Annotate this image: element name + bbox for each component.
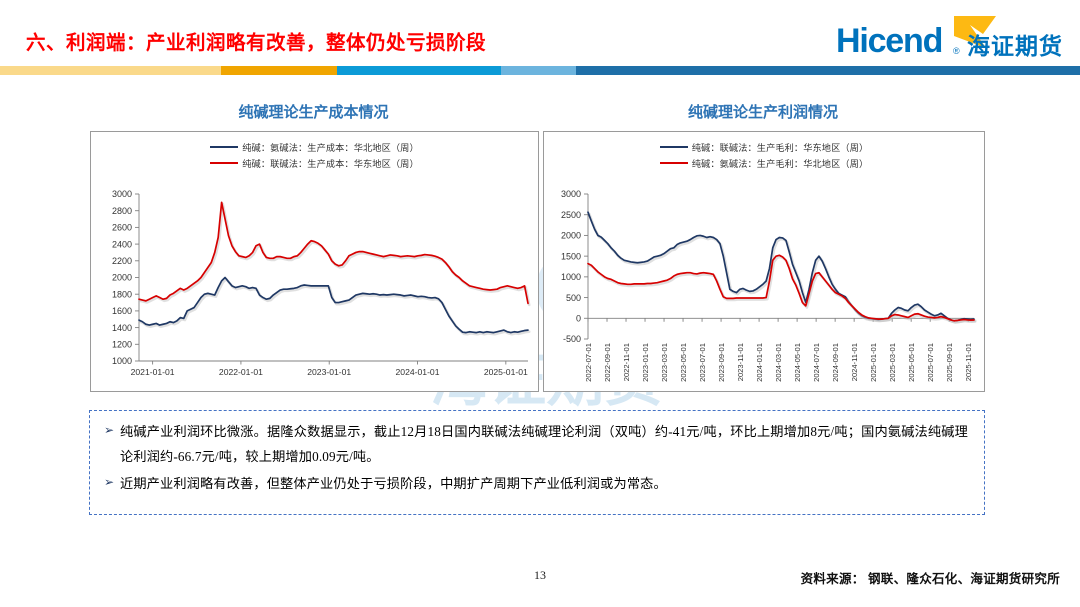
legend-swatch-line xyxy=(210,162,238,164)
x-tick-label: 2023-01-01 xyxy=(641,343,650,382)
x-tick-label: 2024-09-01 xyxy=(831,343,840,382)
y-tick-label: 1000 xyxy=(561,272,581,282)
x-tick-label: 2025-01-01 xyxy=(484,367,528,377)
bullet-text: 纯碱产业利润环比微涨。据隆众数据显示，截止12月18日国内联碱法纯碱理论利润（双… xyxy=(120,419,968,469)
x-tick-label: 2022-07-01 xyxy=(584,343,593,382)
bullet-item: ➢ 近期产业利润略有改善，但整体产业仍处于亏损阶段，中期扩产周期下产业低利润或为… xyxy=(104,471,968,496)
band-orange xyxy=(221,66,337,75)
legend-item: 纯碱：联碱法：生产成本：华东地区（周） xyxy=(210,156,418,170)
plot-area-cost: 3000280026002400220020001800160014001200… xyxy=(91,132,538,391)
slide-root: Hicend ® 海证期货 六、利润端：产业利润略有改善，整体仍处亏损阶段 Hi… xyxy=(0,0,1080,607)
x-tick-label: 2023-11-01 xyxy=(736,343,745,381)
x-tick-label: 2023-07-01 xyxy=(698,343,707,382)
y-tick-label: 1400 xyxy=(112,323,132,333)
chart-title-cost: 纯碱理论生产成本情况 xyxy=(90,101,537,122)
legend-swatch-line xyxy=(660,146,688,148)
band-cyan xyxy=(337,66,501,75)
x-tick-label: 2024-07-01 xyxy=(812,343,821,382)
x-tick-label: 2023-05-01 xyxy=(679,343,688,382)
hicend-logo: Hicend ® 海证期货 xyxy=(836,14,1066,58)
band-darkblue xyxy=(576,66,1080,75)
page-title: 六、利润端：产业利润略有改善，整体仍处亏损阶段 xyxy=(26,26,486,55)
chart-title-profit: 纯碱理论生产利润情况 xyxy=(543,101,983,122)
x-tick-label: 2024-11-01 xyxy=(850,343,859,381)
legend-item: 纯碱：联碱法：生产毛利：华东地区（周） xyxy=(660,140,868,154)
y-tick-label: 1200 xyxy=(112,340,132,350)
y-tick-label: 1800 xyxy=(112,289,132,299)
y-tick-label: 2000 xyxy=(561,231,581,241)
x-tick-label: 2024-03-01 xyxy=(774,343,783,382)
x-tick-label: 2025-03-01 xyxy=(888,343,897,382)
x-tick-label: 2023-01-01 xyxy=(307,367,351,377)
legend-item: 纯碱：氨碱法：生产成本：华北地区（周） xyxy=(210,140,418,154)
x-tick-label: 2025-07-01 xyxy=(926,343,935,382)
legend-swatch-line xyxy=(660,162,688,164)
svg-text:Hicend: Hicend xyxy=(836,22,942,60)
series-line xyxy=(588,212,974,321)
y-tick-label: 3000 xyxy=(112,189,132,199)
y-tick-label: 2800 xyxy=(112,206,132,216)
x-tick-label: 2024-01-01 xyxy=(396,367,440,377)
plot-area-profit: 300025002000150010005000-5002022-07-0120… xyxy=(544,132,984,391)
bullet-item: ➢ 纯碱产业利润环比微涨。据隆众数据显示，截止12月18日国内联碱法纯碱理论利润… xyxy=(104,419,968,469)
y-tick-label: 2600 xyxy=(112,223,132,233)
x-tick-label: 2021-01-01 xyxy=(131,367,175,377)
y-tick-label: 1500 xyxy=(561,251,581,261)
legend-swatch-line xyxy=(210,146,238,148)
svg-text:海证期货: 海证期货 xyxy=(967,33,1063,60)
x-tick-label: 2023-09-01 xyxy=(717,343,726,382)
band-cream xyxy=(0,66,221,75)
bullet-arrow-icon: ➢ xyxy=(104,471,120,493)
y-tick-label: 0 xyxy=(576,313,581,323)
legend-item: 纯碱：氨碱法：生产毛利：华北地区（周） xyxy=(660,156,868,170)
x-tick-label: 2025-05-01 xyxy=(907,343,916,382)
chart-profit: 纯碱：联碱法：生产毛利：华东地区（周） 纯碱：氨碱法：生产毛利：华北地区（周） … xyxy=(543,131,985,392)
x-tick-label: 2022-09-01 xyxy=(603,343,612,382)
y-tick-label: 2000 xyxy=(112,273,132,283)
x-tick-label: 2022-11-01 xyxy=(622,343,631,381)
y-tick-label: 2200 xyxy=(112,256,132,266)
y-tick-label: 1000 xyxy=(112,356,132,366)
legend-label: 纯碱：氨碱法：生产成本：华北地区（周） xyxy=(242,140,418,154)
y-tick-label: 3000 xyxy=(561,189,581,199)
x-tick-label: 2022-01-01 xyxy=(219,367,263,377)
y-tick-label: 2400 xyxy=(112,239,132,249)
x-tick-label: 2024-01-01 xyxy=(755,343,764,382)
series-line xyxy=(588,255,974,320)
x-tick-label: 2024-05-01 xyxy=(793,343,802,382)
commentary-box: ➢ 纯碱产业利润环比微涨。据隆众数据显示，截止12月18日国内联碱法纯碱理论利润… xyxy=(89,410,985,515)
svg-text:®: ® xyxy=(953,46,960,56)
legend-cost: 纯碱：氨碱法：生产成本：华北地区（周） 纯碱：联碱法：生产成本：华东地区（周） xyxy=(91,140,538,170)
legend-label: 纯碱：联碱法：生产成本：华东地区（周） xyxy=(242,156,418,170)
bullet-text: 近期产业利润略有改善，但整体产业仍处于亏损阶段，中期扩产周期下产业低利润或为常态… xyxy=(120,471,667,496)
x-tick-label: 2025-01-01 xyxy=(869,343,878,382)
x-tick-label: 2025-09-01 xyxy=(945,343,954,382)
bullet-arrow-icon: ➢ xyxy=(104,419,120,441)
chart-cost: 纯碱：氨碱法：生产成本：华北地区（周） 纯碱：联碱法：生产成本：华东地区（周） … xyxy=(90,131,539,392)
x-tick-label: 2023-03-01 xyxy=(660,343,669,382)
legend-label: 纯碱：联碱法：生产毛利：华东地区（周） xyxy=(692,140,868,154)
legend-profit: 纯碱：联碱法：生产毛利：华东地区（周） 纯碱：氨碱法：生产毛利：华北地区（周） xyxy=(544,140,984,170)
band-lightblue xyxy=(501,66,576,75)
y-tick-label: -500 xyxy=(563,334,581,344)
header-colorbar xyxy=(0,66,1080,75)
legend-label: 纯碱：氨碱法：生产毛利：华北地区（周） xyxy=(692,156,868,170)
x-tick-label: 2025-11-01 xyxy=(964,343,973,381)
y-tick-label: 2500 xyxy=(561,210,581,220)
source-note: 资料来源： 钢联、隆众石化、海证期货研究所 xyxy=(801,568,1060,587)
y-tick-label: 500 xyxy=(566,293,581,303)
y-tick-label: 1600 xyxy=(112,306,132,316)
